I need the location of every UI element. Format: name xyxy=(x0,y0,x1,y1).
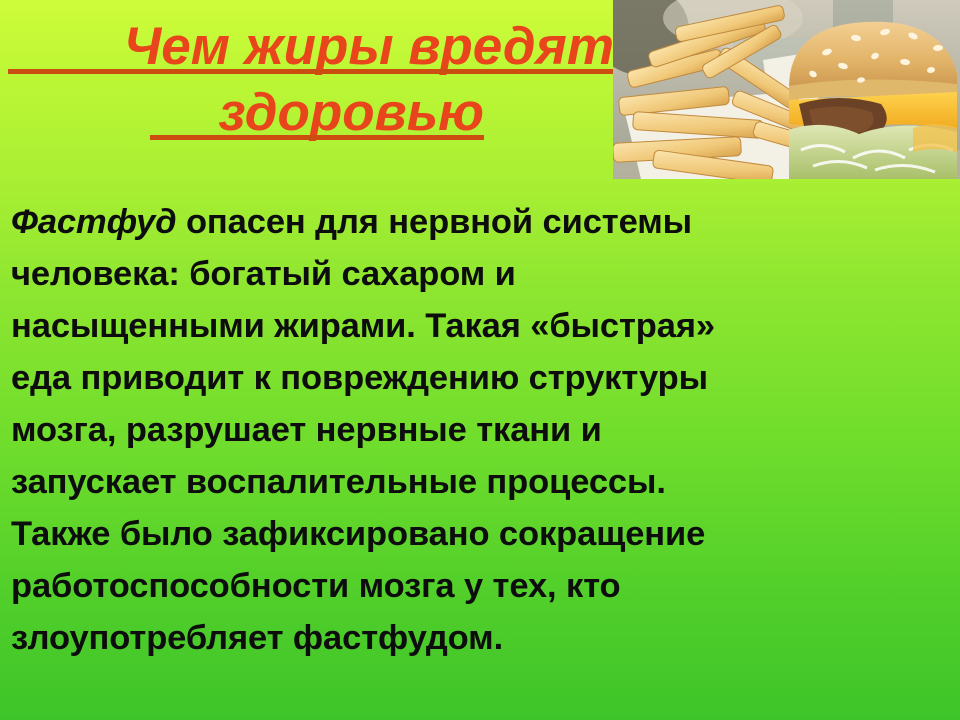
body-line-6: запускает воспалительные процессы. xyxy=(11,456,951,508)
body-line-5: мозга, разрушает нервные ткани и xyxy=(11,404,951,456)
body-line-7: Также было зафиксировано сокращение xyxy=(11,508,951,560)
fast-food-photo xyxy=(613,0,960,179)
title-line-2: здоровью xyxy=(0,80,614,146)
slide-title: Чем жиры вредят здоровью xyxy=(0,14,614,146)
body-line-3: насыщенными жирами. Такая «быстрая» xyxy=(11,300,951,352)
body-line-1: Фастфуд опасен для нервной системы xyxy=(11,196,951,248)
slide-canvas: Чем жиры вредят здоровью xyxy=(0,0,960,720)
body-line-4: еда приводит к повреждению структуры xyxy=(11,352,951,404)
title-underline-1 xyxy=(8,69,614,74)
body-lead-word: Фастфуд xyxy=(11,203,176,241)
title-line-1: Чем жиры вредят xyxy=(0,14,614,80)
body-line-1-rest: опасен для нервной системы xyxy=(176,203,692,241)
title-underline-2 xyxy=(150,135,484,140)
body-line-2: человека: богатый сахаром и xyxy=(11,248,951,300)
body-line-9: злоупотребляет фастфудом. xyxy=(11,612,951,664)
body-text: Фастфуд опасен для нервной системы челов… xyxy=(11,196,951,664)
title-line-1-text: Чем жиры вредят xyxy=(124,17,614,76)
fast-food-photo-graphic xyxy=(613,0,960,179)
title-line-2-text: здоровью xyxy=(218,83,484,142)
body-line-8: работоспособности мозга у тех, кто xyxy=(11,560,951,612)
